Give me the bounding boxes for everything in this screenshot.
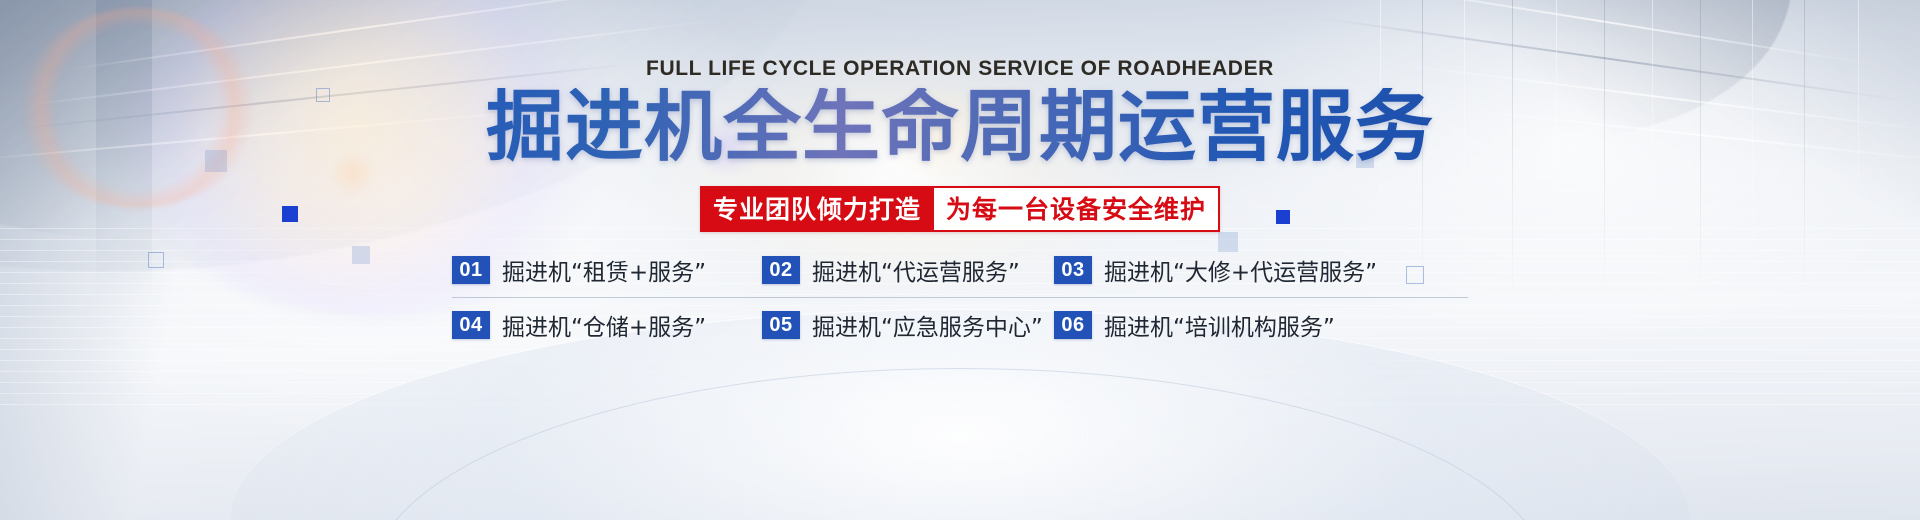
service-item-04[interactable]: 04 掘进机“仓储+服务” <box>452 308 762 342</box>
tagline-secondary: 为每一台设备安全维护 <box>934 186 1220 232</box>
banner-headline: 掘进机全生命周期运营服务 <box>0 88 1920 166</box>
service-label: 掘进机“大修+代运营服务” <box>1104 253 1377 287</box>
service-number-badge: 05 <box>762 311 800 339</box>
service-number-badge: 03 <box>1054 256 1092 284</box>
tagline-primary: 专业团队倾力打造 <box>700 186 934 232</box>
service-row-top: 01 掘进机“租赁+服务” 02 掘进机“代运营服务” 03 掘进机“大修+代运… <box>452 243 1468 298</box>
service-label: 掘进机“代运营服务” <box>812 253 1020 287</box>
tagline-badge: 专业团队倾力打造 为每一台设备安全维护 <box>700 186 1220 232</box>
service-number-badge: 06 <box>1054 311 1092 339</box>
service-number-badge: 01 <box>452 256 490 284</box>
banner-eyebrow: FULL LIFE CYCLE OPERATION SERVICE OF ROA… <box>0 57 1920 81</box>
service-item-02[interactable]: 02 掘进机“代运营服务” <box>762 253 1054 287</box>
hero-banner: FULL LIFE CYCLE OPERATION SERVICE OF ROA… <box>0 0 1920 520</box>
service-label: 掘进机“仓储+服务” <box>502 308 706 342</box>
service-label: 掘进机“培训机构服务” <box>1104 308 1335 342</box>
service-label: 掘进机“应急服务中心” <box>812 308 1043 342</box>
service-item-03[interactable]: 03 掘进机“大修+代运营服务” <box>1054 253 1377 287</box>
service-item-06[interactable]: 06 掘进机“培训机构服务” <box>1054 308 1335 342</box>
service-number-badge: 04 <box>452 311 490 339</box>
banner-content: FULL LIFE CYCLE OPERATION SERVICE OF ROA… <box>0 0 1920 520</box>
service-label: 掘进机“租赁+服务” <box>502 253 706 287</box>
tagline-row: 专业团队倾力打造 为每一台设备安全维护 <box>0 186 1920 232</box>
service-list: 01 掘进机“租赁+服务” 02 掘进机“代运营服务” 03 掘进机“大修+代运… <box>452 243 1468 352</box>
service-row-bottom: 04 掘进机“仓储+服务” 05 掘进机“应急服务中心” 06 掘进机“培训机构… <box>452 298 1468 352</box>
service-number-badge: 02 <box>762 256 800 284</box>
service-item-05[interactable]: 05 掘进机“应急服务中心” <box>762 308 1054 342</box>
service-item-01[interactable]: 01 掘进机“租赁+服务” <box>452 253 762 287</box>
